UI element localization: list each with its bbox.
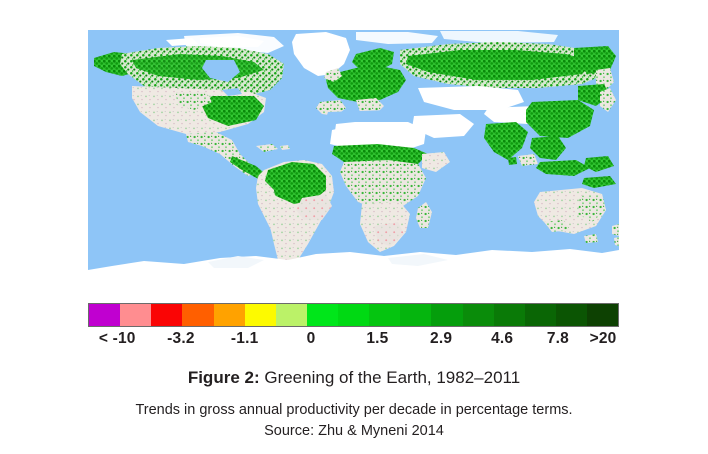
figure-title-text: Greening of the Earth, 1982–2011 bbox=[260, 368, 521, 387]
world-map-svg bbox=[88, 30, 619, 283]
colorbar-tick-label: -3.2 bbox=[167, 330, 195, 348]
colorbar-gradient bbox=[88, 303, 619, 327]
figure-number-label: Figure 2: bbox=[188, 368, 260, 387]
colorbar-segment bbox=[587, 304, 618, 326]
colorbar bbox=[88, 303, 619, 327]
colorbar-tick-label: >20 bbox=[590, 330, 617, 348]
colorbar-segment bbox=[400, 304, 431, 326]
figure-description: Trends in gross annual productivity per … bbox=[0, 400, 708, 442]
colorbar-segment bbox=[276, 304, 307, 326]
colorbar-segment bbox=[431, 304, 462, 326]
colorbar-segment bbox=[369, 304, 400, 326]
colorbar-segment bbox=[120, 304, 151, 326]
figure-source-line: Source: Zhu & Myneni 2014 bbox=[0, 421, 708, 442]
colorbar-tick-label: 0 bbox=[307, 330, 316, 348]
colorbar-segment bbox=[89, 304, 120, 326]
colorbar-segment bbox=[338, 304, 369, 326]
colorbar-segment bbox=[494, 304, 525, 326]
colorbar-segment bbox=[151, 304, 182, 326]
figure-caption: Figure 2: Greening of the Earth, 1982–20… bbox=[0, 368, 708, 388]
colorbar-segment bbox=[214, 304, 245, 326]
colorbar-tick-label: 1.5 bbox=[366, 330, 388, 348]
colorbar-tick-labels: < -10-3.2-1.101.52.94.67.8>20 bbox=[88, 330, 619, 354]
colorbar-tick-label: 2.9 bbox=[430, 330, 452, 348]
figure-description-line-1: Trends in gross annual productivity per … bbox=[0, 400, 708, 421]
colorbar-tick-label: < -10 bbox=[99, 330, 136, 348]
colorbar-segment bbox=[525, 304, 556, 326]
colorbar-tick-label: 7.8 bbox=[547, 330, 569, 348]
world-map-image bbox=[88, 30, 619, 283]
colorbar-tick-label: -1.1 bbox=[231, 330, 259, 348]
colorbar-segment bbox=[245, 304, 276, 326]
figure-container: < -10-3.2-1.101.52.94.67.8>20 Figure 2: … bbox=[0, 0, 708, 454]
colorbar-segment bbox=[463, 304, 494, 326]
colorbar-tick-label: 4.6 bbox=[491, 330, 513, 348]
colorbar-segment bbox=[182, 304, 213, 326]
colorbar-segment bbox=[307, 304, 338, 326]
colorbar-segment bbox=[556, 304, 587, 326]
